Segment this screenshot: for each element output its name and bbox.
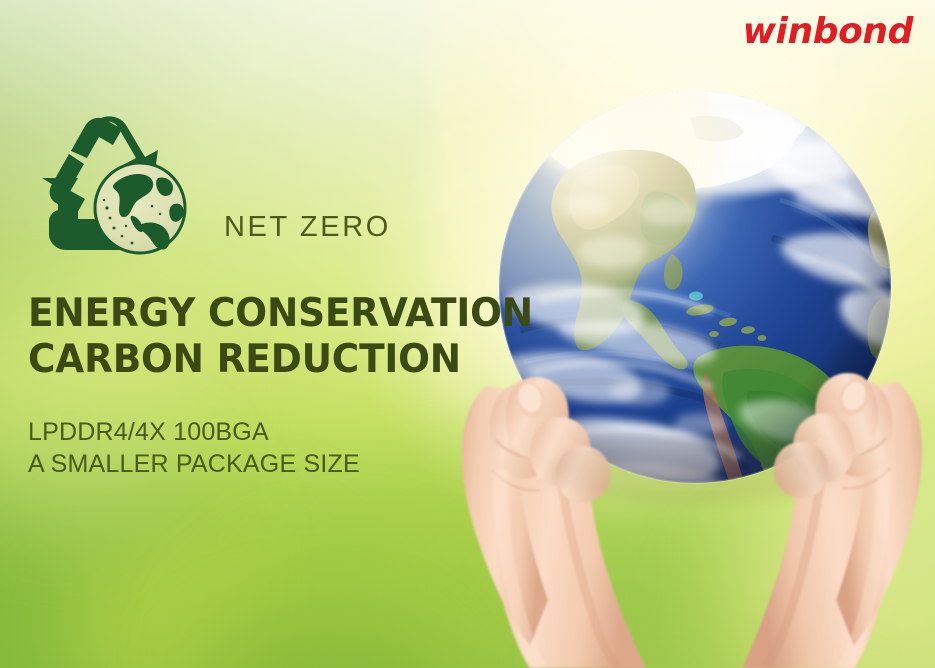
recycle-globe-icon — [40, 112, 192, 260]
net-zero-label: NET ZERO — [224, 211, 391, 244]
promo-banner: winbond — [0, 0, 935, 668]
page-title: ENERGY CONSERVATION CARBON REDUCTION — [28, 291, 533, 383]
winbond-logo-text: winbond — [743, 11, 913, 52]
net-zero-badge: NET ZERO — [40, 112, 391, 260]
headline-line-2: CARBON REDUCTION — [28, 337, 533, 383]
subtitle-line-1: LPDDR4/4X 100BGA — [28, 416, 360, 448]
page-subtitle: LPDDR4/4X 100BGA A SMALLER PACKAGE SIZE — [28, 416, 360, 480]
subtitle-line-2: A SMALLER PACKAGE SIZE — [28, 448, 360, 480]
headline-line-1: ENERGY CONSERVATION — [28, 291, 533, 337]
winbond-logo[interactable]: winbond — [743, 14, 913, 50]
